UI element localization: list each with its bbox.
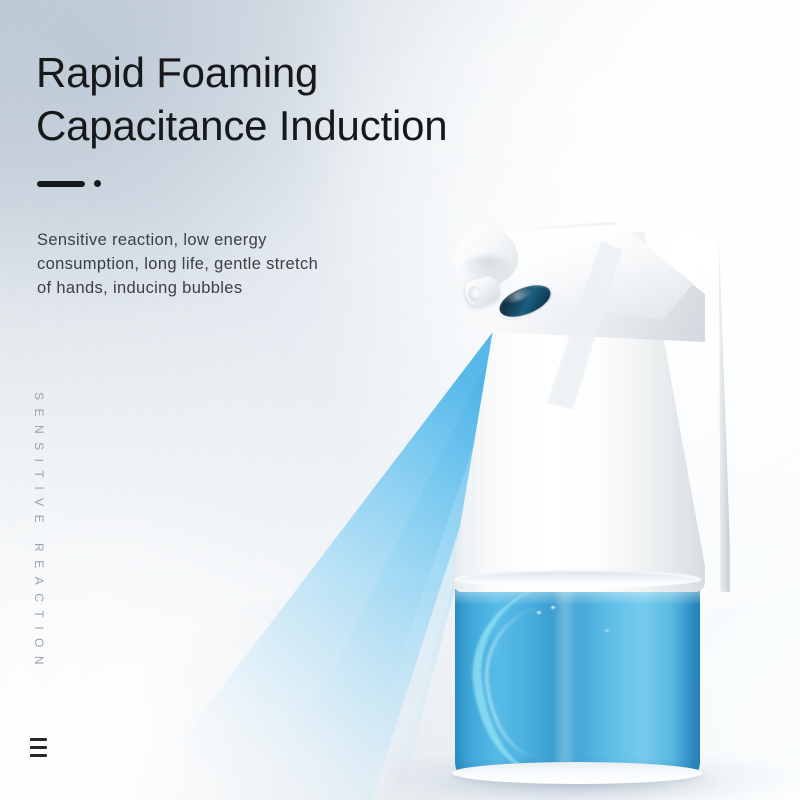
page-subtitle: Sensitive reaction, low energy consumpti…	[37, 228, 377, 300]
blue-liquid-reservoir	[455, 577, 700, 777]
product-poster: Rapid Foaming Capacitance Induction Sens…	[0, 0, 800, 800]
page-title: Rapid Foaming Capacitance Induction	[36, 46, 596, 152]
background-glow-bottom-left	[0, 480, 400, 800]
title-rule-decoration	[37, 180, 101, 187]
bubble-icon	[605, 629, 609, 632]
reservoir-gloss	[553, 577, 577, 777]
rule-dot-icon	[94, 180, 101, 187]
nozzle-opening-icon	[467, 285, 484, 303]
body-right-edge-shading	[714, 232, 730, 592]
liquid-surface	[455, 591, 700, 604]
three-bars-icon	[30, 738, 52, 757]
soap-dispenser-product	[430, 222, 730, 800]
bubble-icon	[551, 606, 555, 609]
base-foot	[452, 762, 703, 784]
vertical-side-label: SENSITIVE REACTION	[24, 392, 46, 673]
bubble-icon	[537, 611, 541, 614]
rule-bar-icon	[37, 181, 85, 187]
